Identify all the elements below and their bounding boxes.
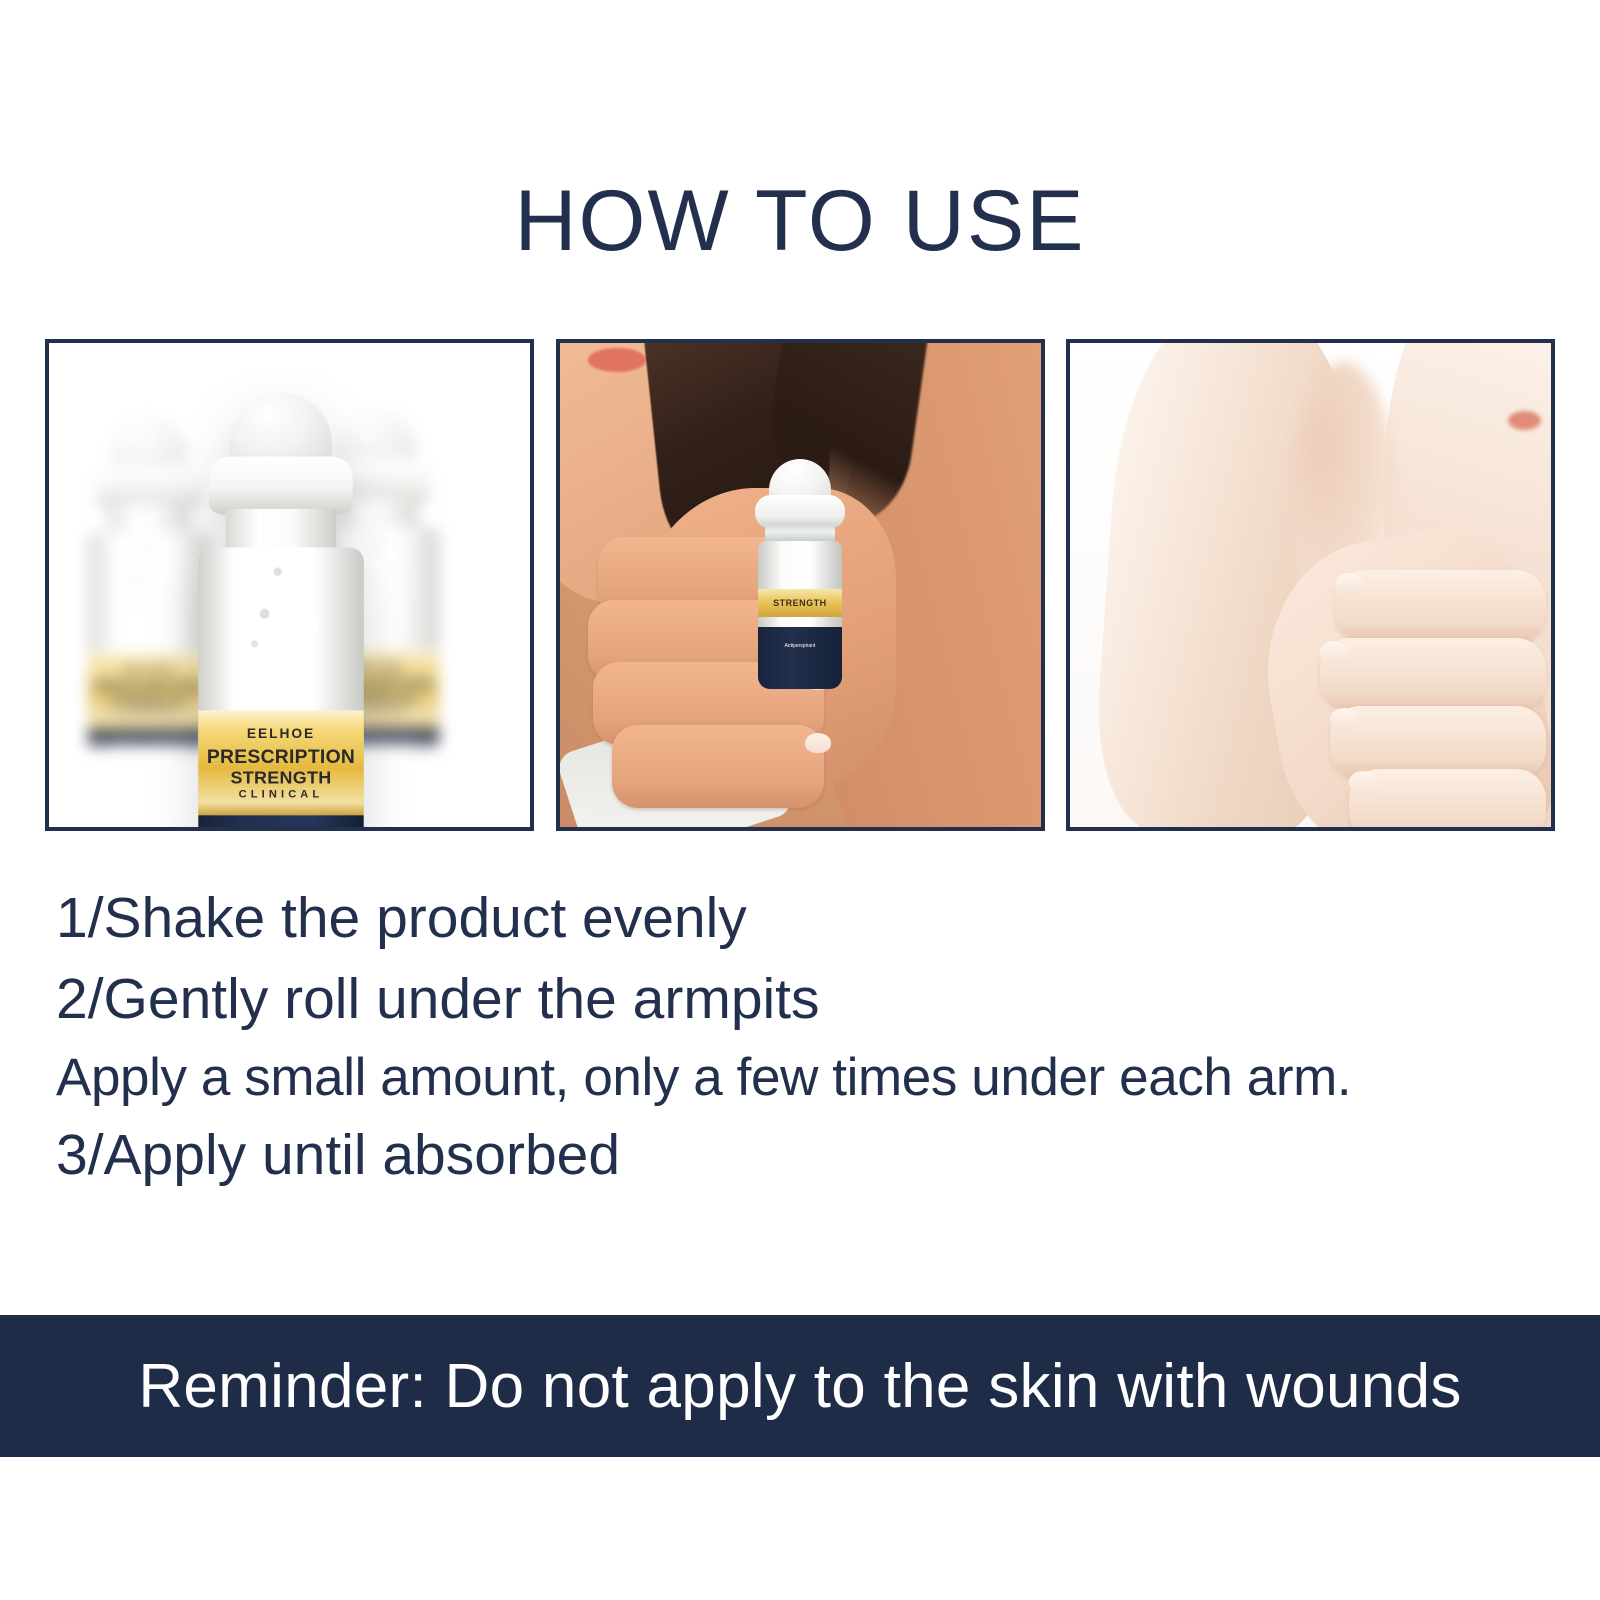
image-panel-row: EELHOE PRESCRIPTION STRENGTH CLINICAL Mo…	[45, 339, 1555, 831]
label-brand: EELHOE	[247, 726, 315, 741]
label-gold-band: STRENGTH	[758, 589, 842, 617]
roll-on-in-hand: STRENGTH Antiperspirant	[752, 459, 848, 689]
finger	[1335, 570, 1547, 643]
panel-absorbed-result	[1066, 339, 1555, 831]
finger	[1349, 769, 1546, 831]
label-title-3: CLINICAL	[118, 709, 181, 718]
label-claim: Most effective antiperspirant you can bu…	[88, 740, 210, 754]
instruction-list: 1/Shake the product evenly 2/Gently roll…	[56, 878, 1536, 1196]
instruction-step-3: 3/Apply until absorbed	[56, 1115, 1536, 1196]
fingernail	[805, 733, 831, 753]
label-gold-band: EELHOE PRESCRIPTION STRENGTH CLINICAL	[198, 710, 364, 815]
finger	[1330, 706, 1546, 779]
label-claim: Most effective antiperspirant you can bu…	[198, 829, 364, 831]
instruction-note: Apply a small amount, only a few times u…	[56, 1040, 1536, 1115]
finger	[1320, 638, 1546, 711]
result-scene	[1070, 343, 1551, 827]
bottle-body: EELHOE PRESCRIPTION STRENGTH CLINICAL Mo…	[88, 532, 210, 754]
bottle-front: EELHOE PRESCRIPTION STRENGTH CLINICAL Mo…	[198, 393, 364, 831]
bottle-scene: EELHOE PRESCRIPTION STRENGTH CLINICAL Mo…	[49, 343, 530, 827]
cap-collar	[96, 465, 202, 508]
finger	[612, 725, 824, 807]
label-brand: EELHOE	[124, 664, 175, 675]
label-title-1: PRESCRIPTION	[94, 677, 204, 693]
fingernail	[1335, 573, 1363, 595]
reminder-text: Reminder: Do not apply to the skin with …	[138, 1351, 1461, 1422]
reminder-banner: Reminder: Do not apply to the skin with …	[0, 1315, 1600, 1457]
label-gold-band: EELHOE PRESCRIPTION STRENGTH CLINICAL	[88, 652, 210, 730]
application-scene: STRENGTH Antiperspirant	[560, 343, 1041, 827]
cap-collar	[209, 456, 353, 514]
instruction-step-1: 1/Shake the product evenly	[56, 878, 1536, 959]
label-navy-section: Antiperspirant	[758, 627, 842, 689]
bottle-body: STRENGTH Antiperspirant	[758, 541, 842, 689]
label-navy-section: Most effective antiperspirant you can bu…	[198, 815, 364, 831]
label-title-1: PRESCRIPTION	[207, 744, 355, 766]
bottle-ghost-left: EELHOE PRESCRIPTION STRENGTH CLINICAL Mo…	[88, 418, 210, 755]
label-title-3: CLINICAL	[239, 787, 324, 799]
fingernail	[1330, 708, 1358, 730]
panel-applying-product: STRENGTH Antiperspirant	[556, 339, 1045, 831]
panel-product-bottle: EELHOE PRESCRIPTION STRENGTH CLINICAL Mo…	[45, 339, 534, 831]
label-navy-section: Most effective antiperspirant you can bu…	[88, 730, 210, 746]
page-title: HOW TO USE	[0, 0, 1600, 264]
fingernail	[1320, 641, 1348, 663]
fingernail	[1349, 771, 1377, 793]
bottle-body: EELHOE PRESCRIPTION STRENGTH CLINICAL Mo…	[198, 548, 364, 831]
lips	[588, 348, 646, 372]
instruction-step-2: 2/Gently roll under the armpits	[56, 959, 1536, 1040]
label-title-2: STRENGTH	[112, 694, 187, 709]
label-title-2: STRENGTH	[231, 766, 332, 787]
